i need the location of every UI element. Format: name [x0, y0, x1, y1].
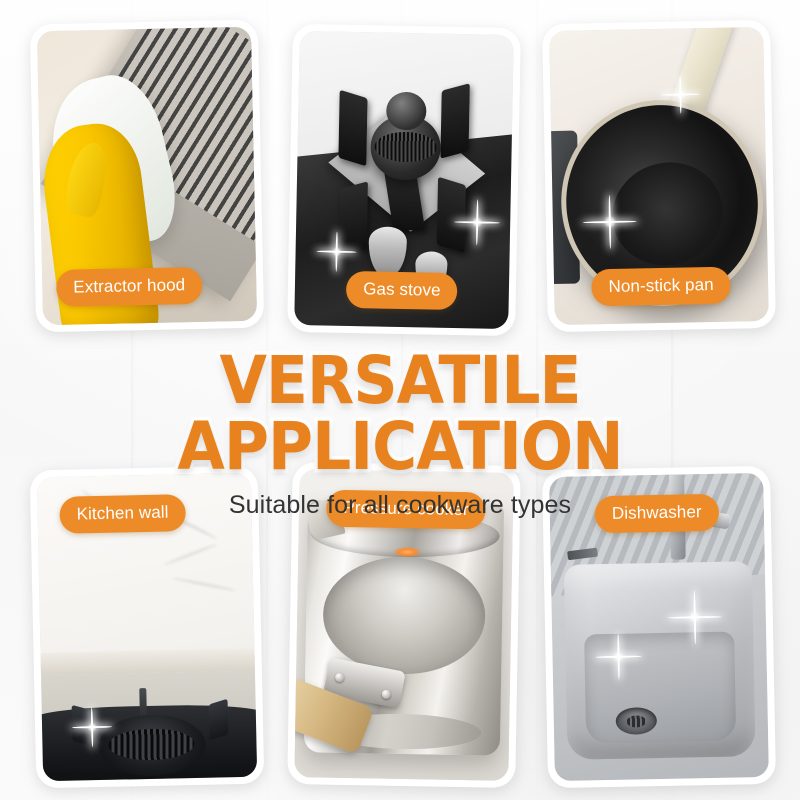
card-extractor-hood[interactable]: Extractor hood: [30, 20, 264, 333]
badge-non-stick-pan[interactable]: Non-stick pan: [591, 267, 731, 307]
page-subtitle: Suitable for all cookware types: [0, 491, 800, 520]
burner-grate-arm: [441, 83, 470, 158]
burner-grate-arm: [437, 177, 466, 253]
burner-grate-arm: [338, 181, 367, 256]
marble-vein: [164, 543, 217, 566]
headline-block: VERSATILE APPLICATION Suitable for all c…: [0, 336, 800, 462]
card-non-stick-pan[interactable]: Non-stick pan: [542, 20, 776, 332]
page-title: VERSATILE APPLICATION: [28, 336, 772, 480]
card-image-non-stick-pan: Non-stick pan: [549, 27, 769, 325]
burner-grate-arm: [72, 705, 92, 747]
badge-extractor-hood[interactable]: Extractor hood: [56, 267, 203, 307]
burner-grate-arm: [338, 89, 367, 165]
card-image-gas-stove: Gas stove: [294, 31, 514, 329]
card-gas-stove[interactable]: Gas stove: [287, 24, 521, 336]
badge-gas-stove[interactable]: Gas stove: [346, 271, 458, 310]
card-image-extractor-hood: Extractor hood: [37, 27, 257, 325]
burner-grate-arm: [209, 699, 229, 741]
marble-vein: [172, 577, 236, 592]
handle-rivet: [335, 673, 344, 682]
pan-inner-surface: [599, 148, 735, 278]
glove-thumb: [62, 140, 111, 219]
pot-interior: [322, 556, 485, 675]
sink-basin-floor: [584, 632, 737, 744]
sink-basin: [564, 561, 756, 759]
card-row-top: Extractor hood Gas stove: [0, 18, 800, 336]
handle-rivet: [381, 689, 390, 698]
